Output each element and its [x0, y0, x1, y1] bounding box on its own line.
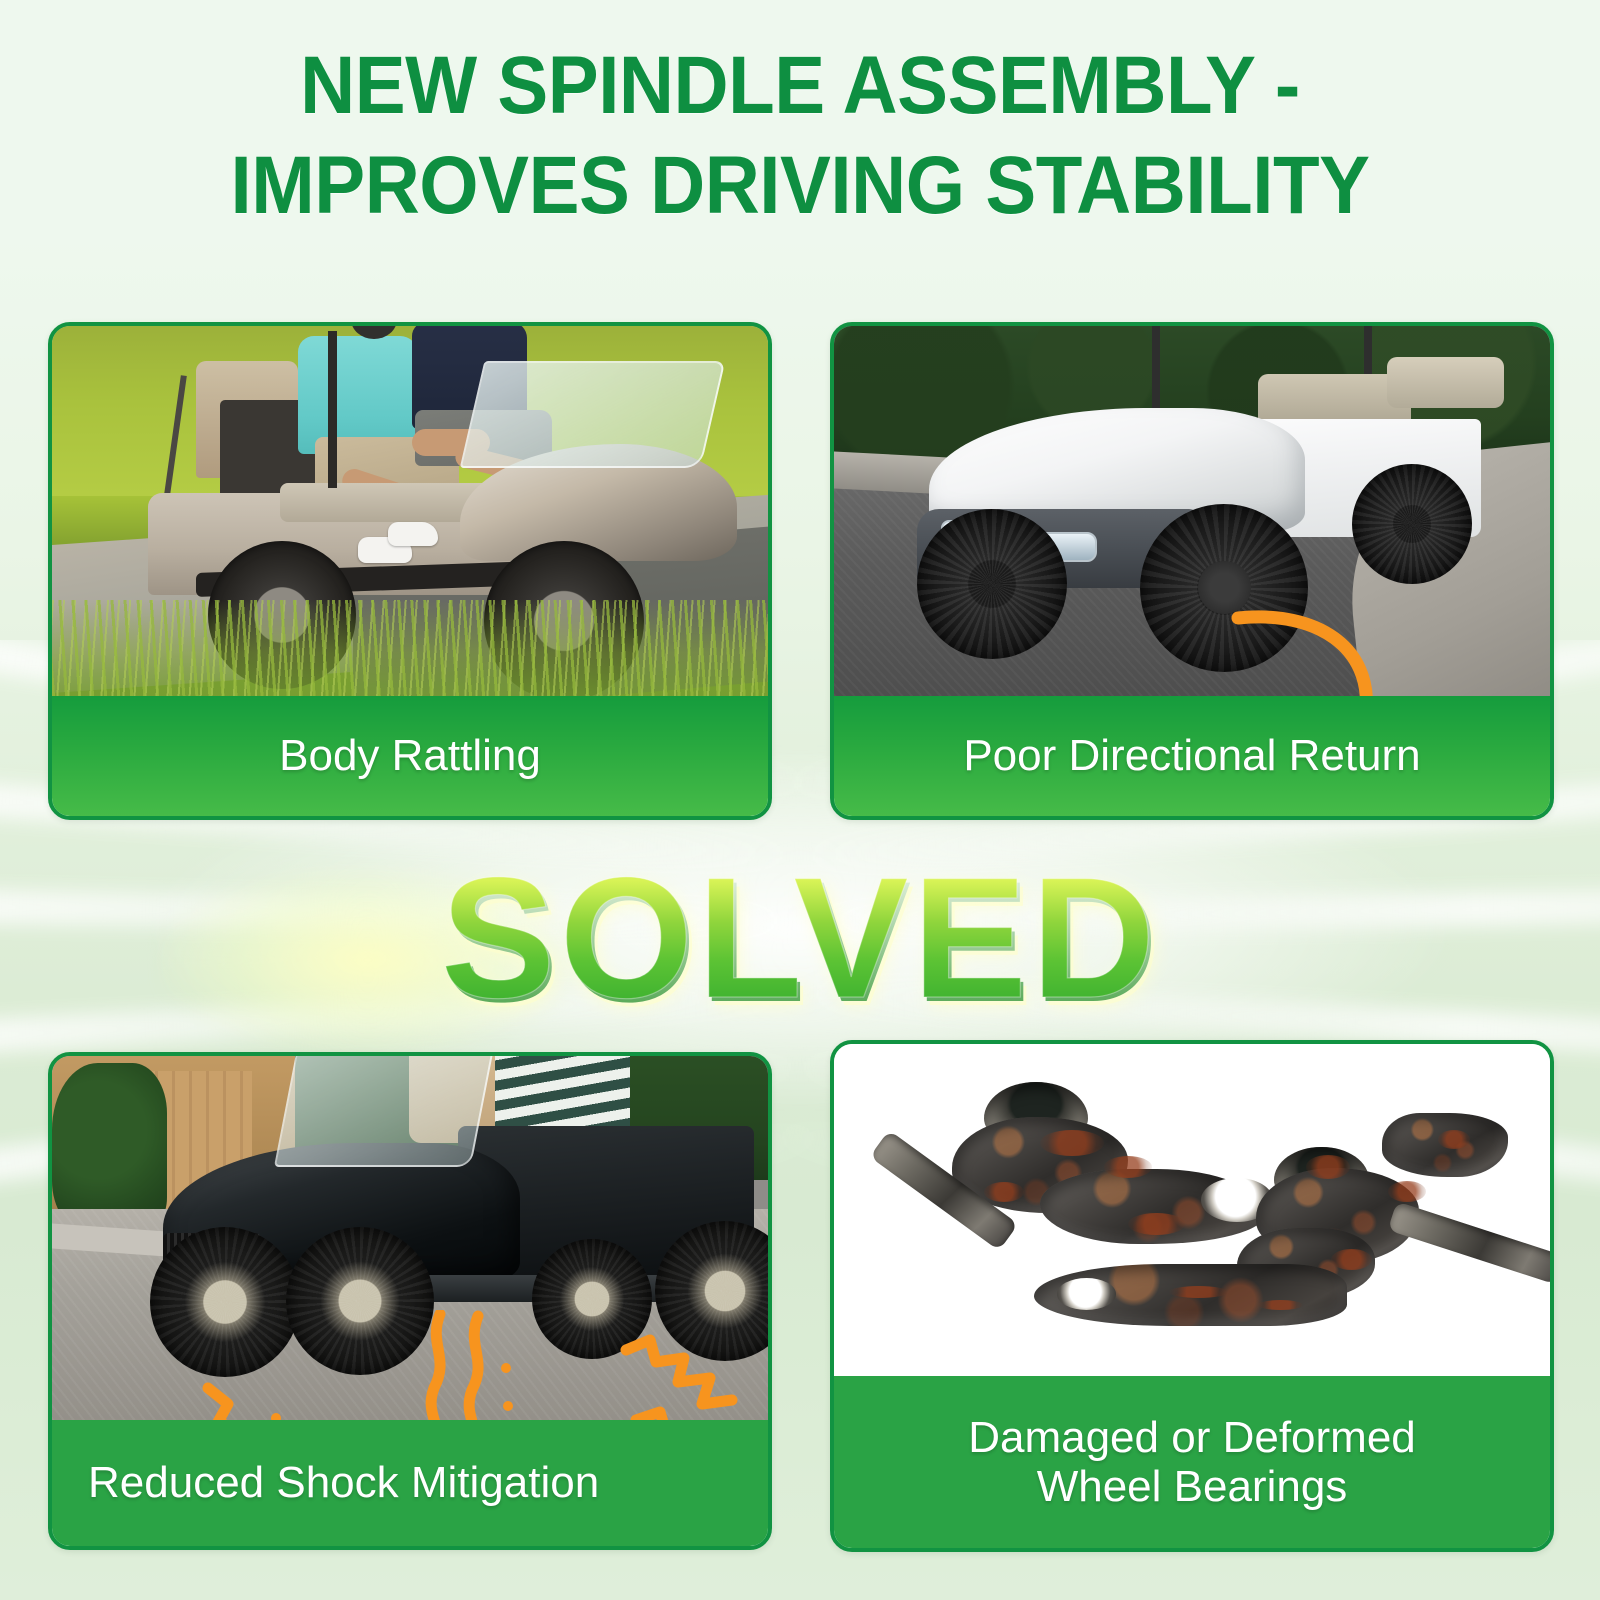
photo-rusty-spindles	[834, 1044, 1550, 1376]
vibration-squiggle-icon	[618, 1334, 746, 1420]
vibration-squiggle-icon	[202, 1374, 322, 1420]
svg-text:SOLVED: SOLVED	[441, 845, 1159, 1034]
card-body-rattling[interactable]: Body Rattling	[48, 322, 772, 820]
caption-line-1: Damaged or Deformed	[968, 1413, 1416, 1462]
card-caption-damaged-wheel-bearings: Damaged or Deformed Wheel Bearings	[834, 1376, 1550, 1548]
card-damaged-wheel-bearings[interactable]: Damaged or Deformed Wheel Bearings	[830, 1040, 1554, 1552]
page-title-line-1: NEW SPINDLE ASSEMBLY -	[56, 36, 1544, 136]
page-title-line-2: IMPROVES DRIVING STABILITY	[56, 136, 1544, 236]
photo-white-golf-cart	[834, 326, 1550, 696]
page-title: NEW SPINDLE ASSEMBLY - IMPROVES DRIVING …	[56, 36, 1544, 236]
photo-golf-cart-on-path	[52, 326, 768, 696]
caption-line-2: Wheel Bearings	[968, 1462, 1416, 1511]
card-reduced-shock-mitigation[interactable]: Reduced Shock Mitigation	[48, 1052, 772, 1550]
card-caption-poor-directional-return: Poor Directional Return	[834, 696, 1550, 816]
vibration-squiggle-icon	[422, 1310, 528, 1420]
photo-black-golf-cart	[52, 1056, 768, 1420]
curved-down-arrow-icon	[1226, 604, 1406, 696]
card-caption-reduced-shock-mitigation: Reduced Shock Mitigation	[52, 1420, 768, 1546]
card-poor-directional-return[interactable]: Poor Directional Return	[830, 322, 1554, 820]
card-caption-body-rattling: Body Rattling	[52, 696, 768, 816]
solved-badge: SOLVED SOLVED SOLVED	[0, 845, 1600, 1055]
